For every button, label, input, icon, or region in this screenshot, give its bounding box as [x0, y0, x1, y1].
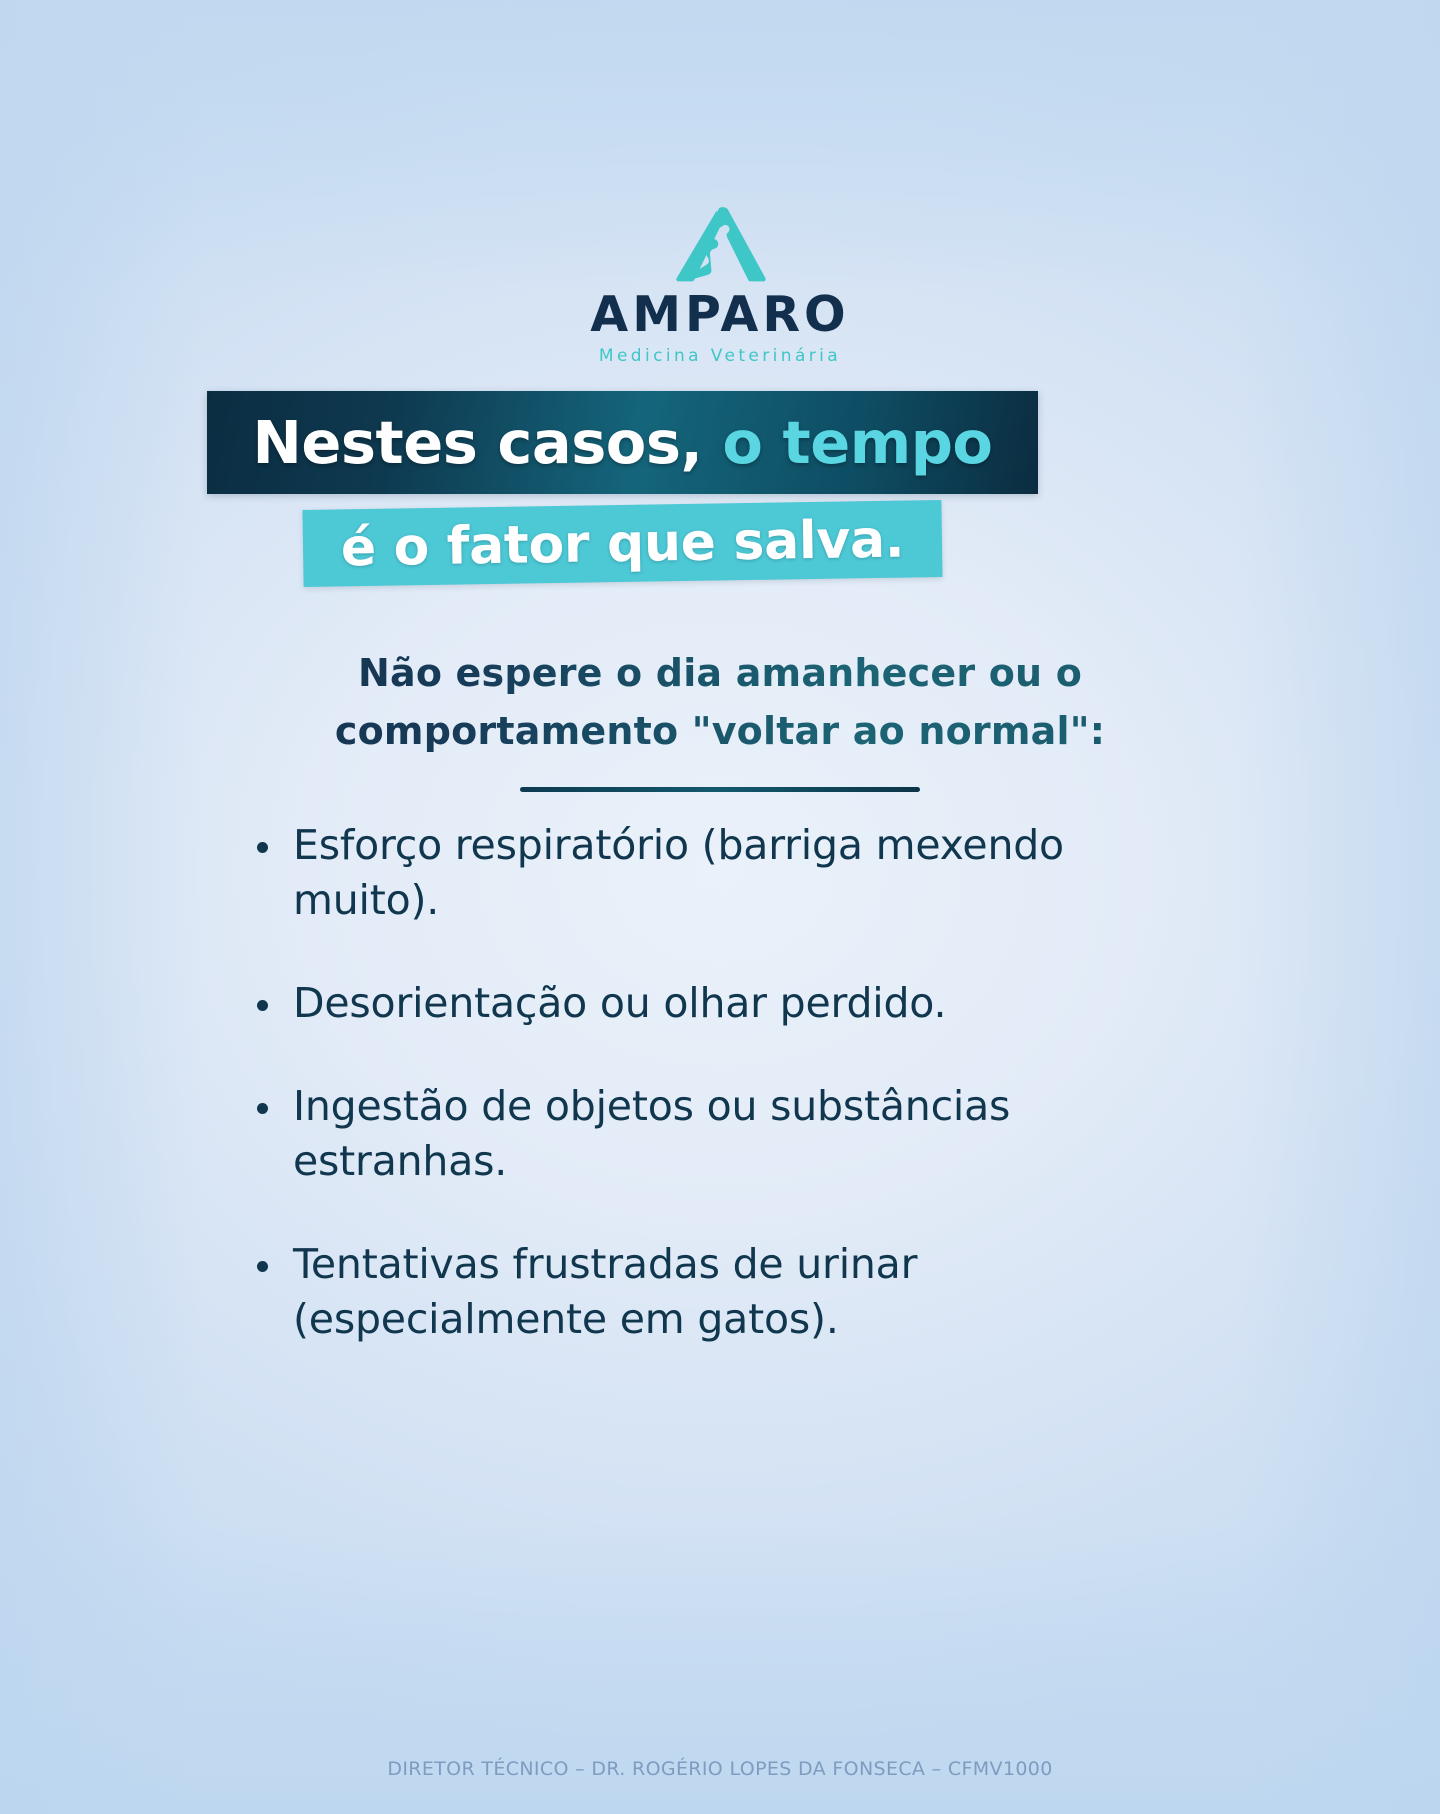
list-item: Tentativas frustradas de urinar (especia…	[243, 1237, 1193, 1347]
subtitle-line-1: Não espere o dia amanhecer ou o	[180, 645, 1260, 703]
headline-banner-primary: Nestes casos, o tempo	[207, 391, 1038, 494]
footer-credit: DIRETOR TÉCNICO – DR. ROGÉRIO LOPES DA F…	[0, 1758, 1440, 1780]
amparo-animal-arch-logo-icon	[672, 206, 768, 284]
brand-logo: AMPARO Medicina Veterinária	[0, 206, 1440, 365]
list-item: Ingestão de objetos ou substâncias estra…	[243, 1079, 1193, 1189]
logo-wordmark: AMPARO	[0, 290, 1440, 339]
poster-canvas: AMPARO Medicina Veterinária Nestes casos…	[0, 0, 1440, 1814]
headline-line-2: é o fator que salva.	[340, 513, 904, 574]
subtitle-line-2: comportamento "voltar ao normal":	[180, 703, 1260, 761]
section-divider	[520, 787, 920, 792]
headline-line-1-accent: o tempo	[722, 408, 992, 477]
subtitle-block: Não espere o dia amanhecer ou o comporta…	[180, 645, 1260, 761]
headline-banner-secondary: é o fator que salva.	[302, 500, 942, 587]
logo-tagline: Medicina Veterinária	[0, 348, 1440, 365]
headline-line-1-white: Nestes casos,	[253, 408, 703, 477]
list-item: Esforço respiratório (barriga mexendo mu…	[243, 818, 1193, 928]
list-item: Desorientação ou olhar perdido.	[243, 976, 1193, 1031]
symptom-list: Esforço respiratório (barriga mexendo mu…	[243, 818, 1193, 1347]
headline-line-1: Nestes casos, o tempo	[253, 413, 993, 472]
